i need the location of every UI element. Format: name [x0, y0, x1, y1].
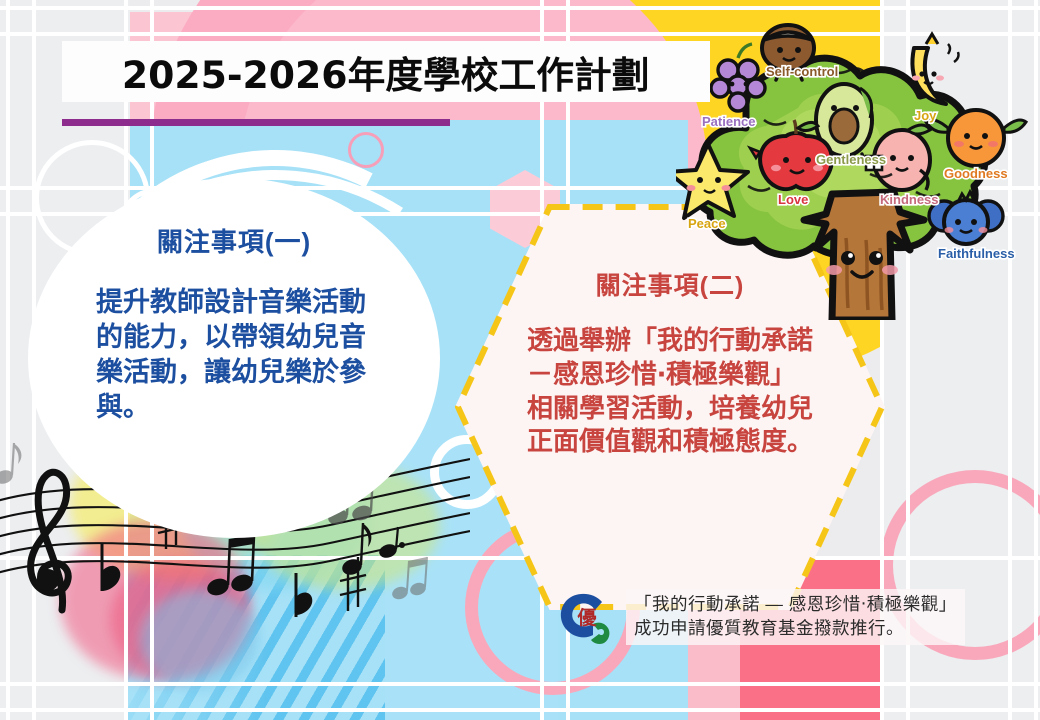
- grid-line-h-6: [0, 682, 1040, 686]
- note-gray-right: [391, 557, 428, 601]
- fruit-label-gentleness: Gentleness: [816, 152, 886, 167]
- fruit-label-kindness: Kindness: [880, 192, 939, 207]
- funding-caption-row: 優 「我的行動承諾 — 感恩珍惜‧積極樂觀」 成功申請優質教育基金撥款推行。: [556, 588, 965, 646]
- focus-one-body: 提升教師設計音樂活動的能力，以帶領幼兒音樂活動，讓幼兒樂於參與。: [96, 285, 372, 425]
- flat-symbol: [102, 543, 120, 591]
- pink-ring-small: [348, 132, 384, 168]
- caption-line-1: 「我的行動承諾 — 感恩珍惜‧積極樂觀」: [634, 593, 957, 617]
- caption-text-box: 「我的行動承諾 — 感恩珍惜‧積極樂觀」 成功申請優質教育基金撥款推行。: [626, 589, 965, 645]
- focus-one-heading: 關注事項(一): [157, 222, 311, 259]
- caption-line-2: 成功申請優質教育基金撥款推行。: [634, 617, 957, 641]
- note-gray-left: [0, 443, 21, 486]
- grid-line-h-7: [0, 708, 1040, 712]
- blueberry-icon: [929, 192, 1003, 244]
- fruit-label-patience: Patience: [702, 114, 755, 129]
- fruit-label-joy: Joy: [914, 108, 937, 123]
- fruit-label-peace: Peace: [688, 216, 726, 231]
- focus-area-one-content: 關注事項(一) 提升教師設計音樂活動的能力，以帶領幼兒音樂活動，讓幼兒樂於參與。: [28, 178, 440, 538]
- svg-text:優: 優: [576, 606, 597, 629]
- slide-canvas: 2025-2026年度學校工作計劃 關注事項(一) 提升教師設計音樂活動的能力，…: [0, 0, 1040, 720]
- fruit-label-self-control: Self-control: [766, 64, 838, 79]
- focus-two-body: 透過舉辦「我的行動承諾－感恩珍惜‧積極樂觀」相關學習活動，培養幼兒正面價值觀和積…: [527, 324, 813, 459]
- title-banner: 2025-2026年度學校工作計劃: [62, 41, 710, 102]
- flat-symbol-2: [296, 573, 312, 617]
- fruit-of-the-spirit-tree: Self-control Joy Patience Gentleness Goo…: [676, 8, 1040, 320]
- title-underline-rule: [62, 119, 450, 126]
- fruit-label-faithfulness: Faithfulness: [938, 246, 1015, 261]
- qef-logo: 優: [556, 588, 618, 646]
- fruit-label-goodness: Goodness: [944, 166, 1008, 181]
- fruit-label-love: Love: [778, 192, 808, 207]
- page-title: 2025-2026年度學校工作計劃: [122, 45, 650, 99]
